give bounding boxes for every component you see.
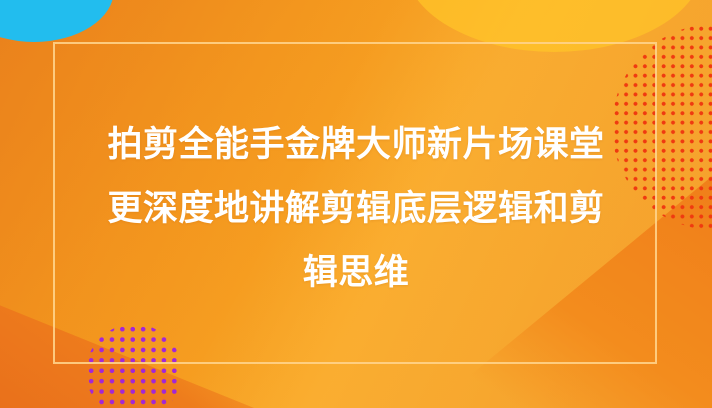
title-line-1: 拍剪全能手金牌大师新片场课堂 <box>107 127 604 162</box>
title-line-2: 更深度地讲解剪辑底层逻辑和剪 <box>107 191 604 226</box>
poster-canvas: 拍剪全能手金牌大师新片场课堂 更深度地讲解剪辑底层逻辑和剪 辑思维 <box>0 0 712 408</box>
title-line-3: 辑思维 <box>303 255 410 290</box>
title-block: 拍剪全能手金牌大师新片场课堂 更深度地讲解剪辑底层逻辑和剪 辑思维 <box>0 0 712 408</box>
